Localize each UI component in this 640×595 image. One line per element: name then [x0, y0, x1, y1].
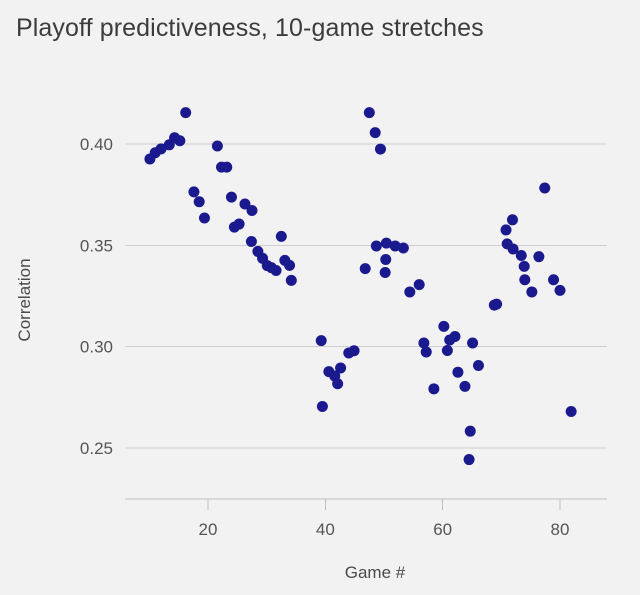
data-point	[473, 360, 484, 371]
data-point	[533, 251, 544, 262]
data-point	[438, 321, 449, 332]
x-tick-label: 80	[551, 520, 570, 539]
data-point	[507, 214, 518, 225]
data-point	[501, 224, 512, 235]
data-point	[566, 406, 577, 417]
data-points	[144, 107, 576, 465]
data-point	[364, 107, 375, 118]
data-point	[221, 162, 232, 173]
x-tick-label: 40	[316, 520, 335, 539]
x-axis-label: Game #	[345, 563, 406, 582]
data-point	[442, 345, 453, 356]
y-tick-label: 0.40	[80, 135, 113, 154]
data-point	[380, 254, 391, 265]
data-point	[316, 335, 327, 346]
data-point	[199, 212, 210, 223]
data-point	[404, 286, 415, 297]
data-point	[247, 205, 258, 216]
data-point	[212, 141, 223, 152]
data-point	[271, 265, 282, 276]
y-tick-label: 0.30	[80, 338, 113, 357]
data-point	[539, 182, 550, 193]
data-point	[449, 331, 460, 342]
data-point	[226, 192, 237, 203]
data-point	[332, 378, 343, 389]
data-point	[467, 338, 478, 349]
scatter-plot: 0.250.300.350.40 20406080 Correlation Ga…	[0, 0, 640, 595]
data-point	[370, 127, 381, 138]
data-point	[516, 250, 527, 261]
y-axis-ticks: 0.250.300.350.40	[80, 135, 113, 458]
data-point	[421, 346, 432, 357]
data-point	[360, 263, 371, 274]
data-point	[380, 267, 391, 278]
data-point	[349, 345, 360, 356]
data-point	[276, 231, 287, 242]
data-point	[465, 426, 476, 437]
data-point	[398, 242, 409, 253]
data-point	[174, 135, 185, 146]
data-point	[188, 186, 199, 197]
y-axis-label: Correlation	[15, 258, 34, 341]
data-point	[414, 279, 425, 290]
data-point	[459, 381, 470, 392]
data-point	[375, 144, 386, 155]
chart-title: Playoff predictiveness, 10-game stretche…	[16, 14, 484, 43]
data-point	[519, 261, 530, 272]
data-point	[371, 240, 382, 251]
x-tick-label: 20	[199, 520, 218, 539]
y-tick-label: 0.35	[80, 236, 113, 255]
data-point	[286, 275, 297, 286]
data-point	[464, 454, 475, 465]
x-axis: 20406080	[125, 499, 607, 539]
data-point	[284, 260, 295, 271]
data-point	[452, 367, 463, 378]
data-point	[335, 362, 346, 373]
data-point	[428, 383, 439, 394]
data-point	[519, 274, 530, 285]
data-point	[180, 107, 191, 118]
data-point	[491, 299, 502, 310]
data-point	[246, 236, 257, 247]
data-point	[548, 274, 559, 285]
data-point	[526, 286, 537, 297]
data-point	[555, 285, 566, 296]
chart-page: Playoff predictiveness, 10-game stretche…	[0, 0, 640, 595]
data-point	[194, 196, 205, 207]
y-tick-label: 0.25	[80, 439, 113, 458]
data-point	[234, 219, 245, 230]
data-point	[317, 401, 328, 412]
x-tick-label: 60	[433, 520, 452, 539]
